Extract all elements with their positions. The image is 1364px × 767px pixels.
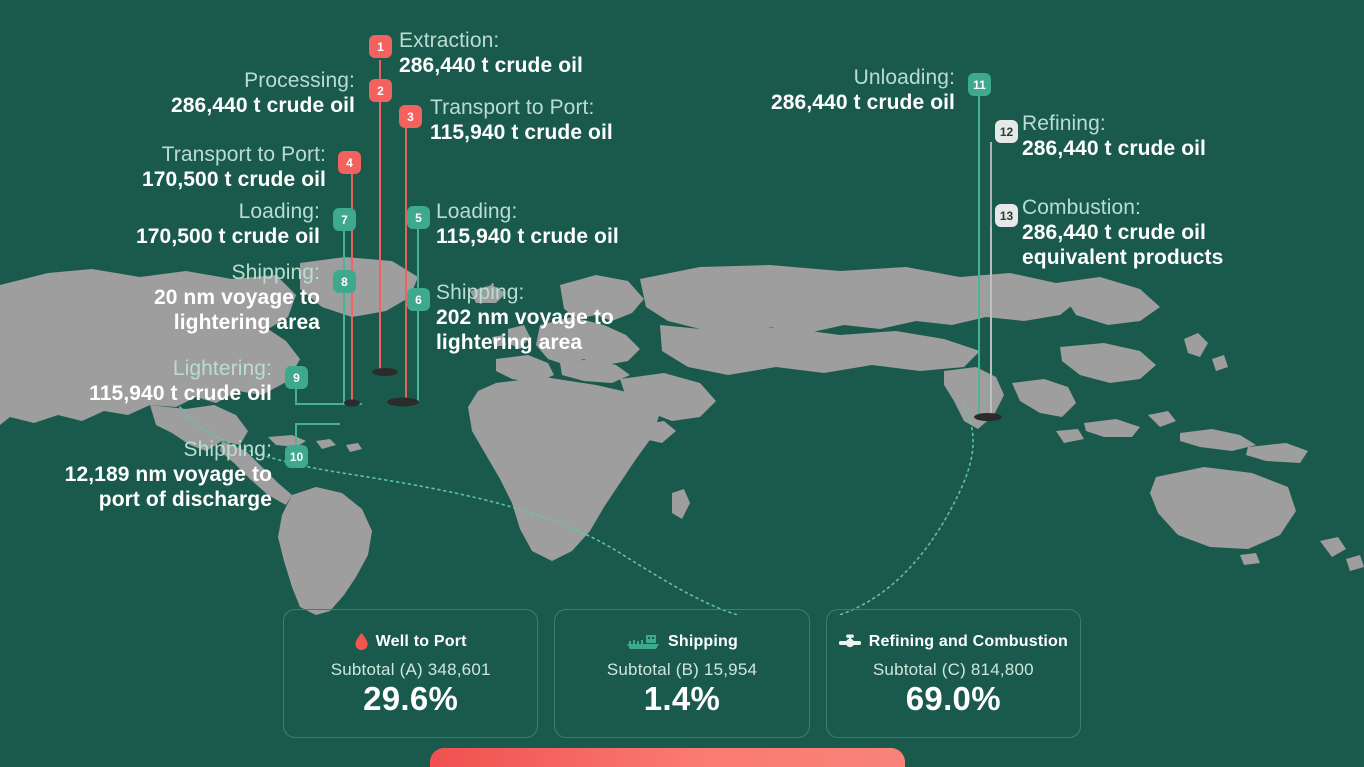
card-subtotal: Subtotal (A) 348,601 [331, 660, 491, 680]
step-label-10: Shipping: 12,189 nm voyage to port of di… [20, 437, 272, 512]
valve-icon [839, 634, 861, 650]
step-1-title: Extraction: [399, 28, 729, 53]
step-2-value: 286,440 t crude oil [40, 93, 355, 118]
step-badge-10[interactable]: 10 [285, 445, 308, 468]
step-badge-7[interactable]: 7 [333, 208, 356, 231]
step-7-value: 170,500 t crude oil [20, 224, 320, 249]
step-3-value: 115,940 t crude oil [430, 120, 760, 145]
step-badge-8[interactable]: 8 [333, 270, 356, 293]
infographic-canvas: Processing: 286,440 t crude oil Extracti… [0, 0, 1364, 767]
step-badge-1[interactable]: 1 [369, 35, 392, 58]
step-13-value: 286,440 t crude oil equivalent products [1022, 220, 1362, 270]
card-percent: 29.6% [363, 681, 458, 717]
step-label-12: Refining: 286,440 t crude oil [1022, 111, 1352, 161]
step-10-value: 12,189 nm voyage to port of discharge [20, 462, 272, 512]
ship-icon [626, 634, 660, 650]
step-label-6: Shipping: 202 nm voyage to lightering ar… [436, 280, 776, 355]
step-7-title: Loading: [20, 199, 320, 224]
step-12-title: Refining: [1022, 111, 1352, 136]
step-4-title: Transport to Port: [20, 142, 326, 167]
summary-card-shipping[interactable]: Shipping Subtotal (B) 15,954 1.4% [554, 609, 809, 738]
step-8-value: 20 nm voyage to lightering area [20, 285, 320, 335]
step-10-title: Shipping: [20, 437, 272, 462]
card-percent: 69.0% [906, 681, 1001, 717]
step-badge-3[interactable]: 3 [399, 105, 422, 128]
step-badge-11[interactable]: 11 [968, 73, 991, 96]
step-11-title: Unloading: [640, 65, 955, 90]
bottom-action-bar[interactable] [430, 748, 905, 767]
step-label-13: Combustion: 286,440 t crude oil equivale… [1022, 195, 1362, 270]
step-badge-2[interactable]: 2 [369, 79, 392, 102]
step-badge-4[interactable]: 4 [338, 151, 361, 174]
step-8-title: Shipping: [20, 260, 320, 285]
step-5-value: 115,940 t crude oil [436, 224, 766, 249]
card-title: Shipping [668, 633, 738, 651]
step-badge-9[interactable]: 9 [285, 366, 308, 389]
step-5-title: Loading: [436, 199, 766, 224]
step-label-4: Transport to Port: 170,500 t crude oil [20, 142, 326, 192]
card-percent: 1.4% [644, 681, 720, 717]
step-4-value: 170,500 t crude oil [20, 167, 326, 192]
step-13-title: Combustion: [1022, 195, 1362, 220]
step-badge-12[interactable]: 12 [995, 120, 1018, 143]
step-6-title: Shipping: [436, 280, 776, 305]
step-badge-5[interactable]: 5 [407, 206, 430, 229]
summary-card-well-to-port[interactable]: Well to Port Subtotal (A) 348,601 29.6% [283, 609, 538, 738]
step-badge-13[interactable]: 13 [995, 204, 1018, 227]
card-header: Well to Port [355, 633, 467, 651]
card-subtotal: Subtotal (C) 814,800 [873, 660, 1034, 680]
step-9-title: Lightering: [20, 356, 272, 381]
step-label-2: Processing: 286,440 t crude oil [40, 68, 355, 118]
summary-card-refining-combustion[interactable]: Refining and Combustion Subtotal (C) 814… [826, 609, 1081, 738]
step-label-9: Lightering: 115,940 t crude oil [20, 356, 272, 406]
step-label-11: Unloading: 286,440 t crude oil [640, 65, 955, 115]
card-title: Refining and Combustion [869, 633, 1068, 651]
oil-drop-icon [355, 633, 368, 650]
step-12-value: 286,440 t crude oil [1022, 136, 1352, 161]
step-label-5: Loading: 115,940 t crude oil [436, 199, 766, 249]
card-subtotal: Subtotal (B) 15,954 [607, 660, 757, 680]
step-badge-6[interactable]: 6 [407, 288, 430, 311]
step-11-value: 286,440 t crude oil [640, 90, 955, 115]
step-6-value: 202 nm voyage to lightering area [436, 305, 776, 355]
card-header: Shipping [626, 633, 738, 651]
card-title: Well to Port [376, 633, 467, 651]
summary-cards: Well to Port Subtotal (A) 348,601 29.6% [283, 609, 1081, 738]
step-label-7: Loading: 170,500 t crude oil [20, 199, 320, 249]
step-label-8: Shipping: 20 nm voyage to lightering are… [20, 260, 320, 335]
step-9-value: 115,940 t crude oil [20, 381, 272, 406]
step-2-title: Processing: [40, 68, 355, 93]
card-header: Refining and Combustion [839, 633, 1068, 651]
